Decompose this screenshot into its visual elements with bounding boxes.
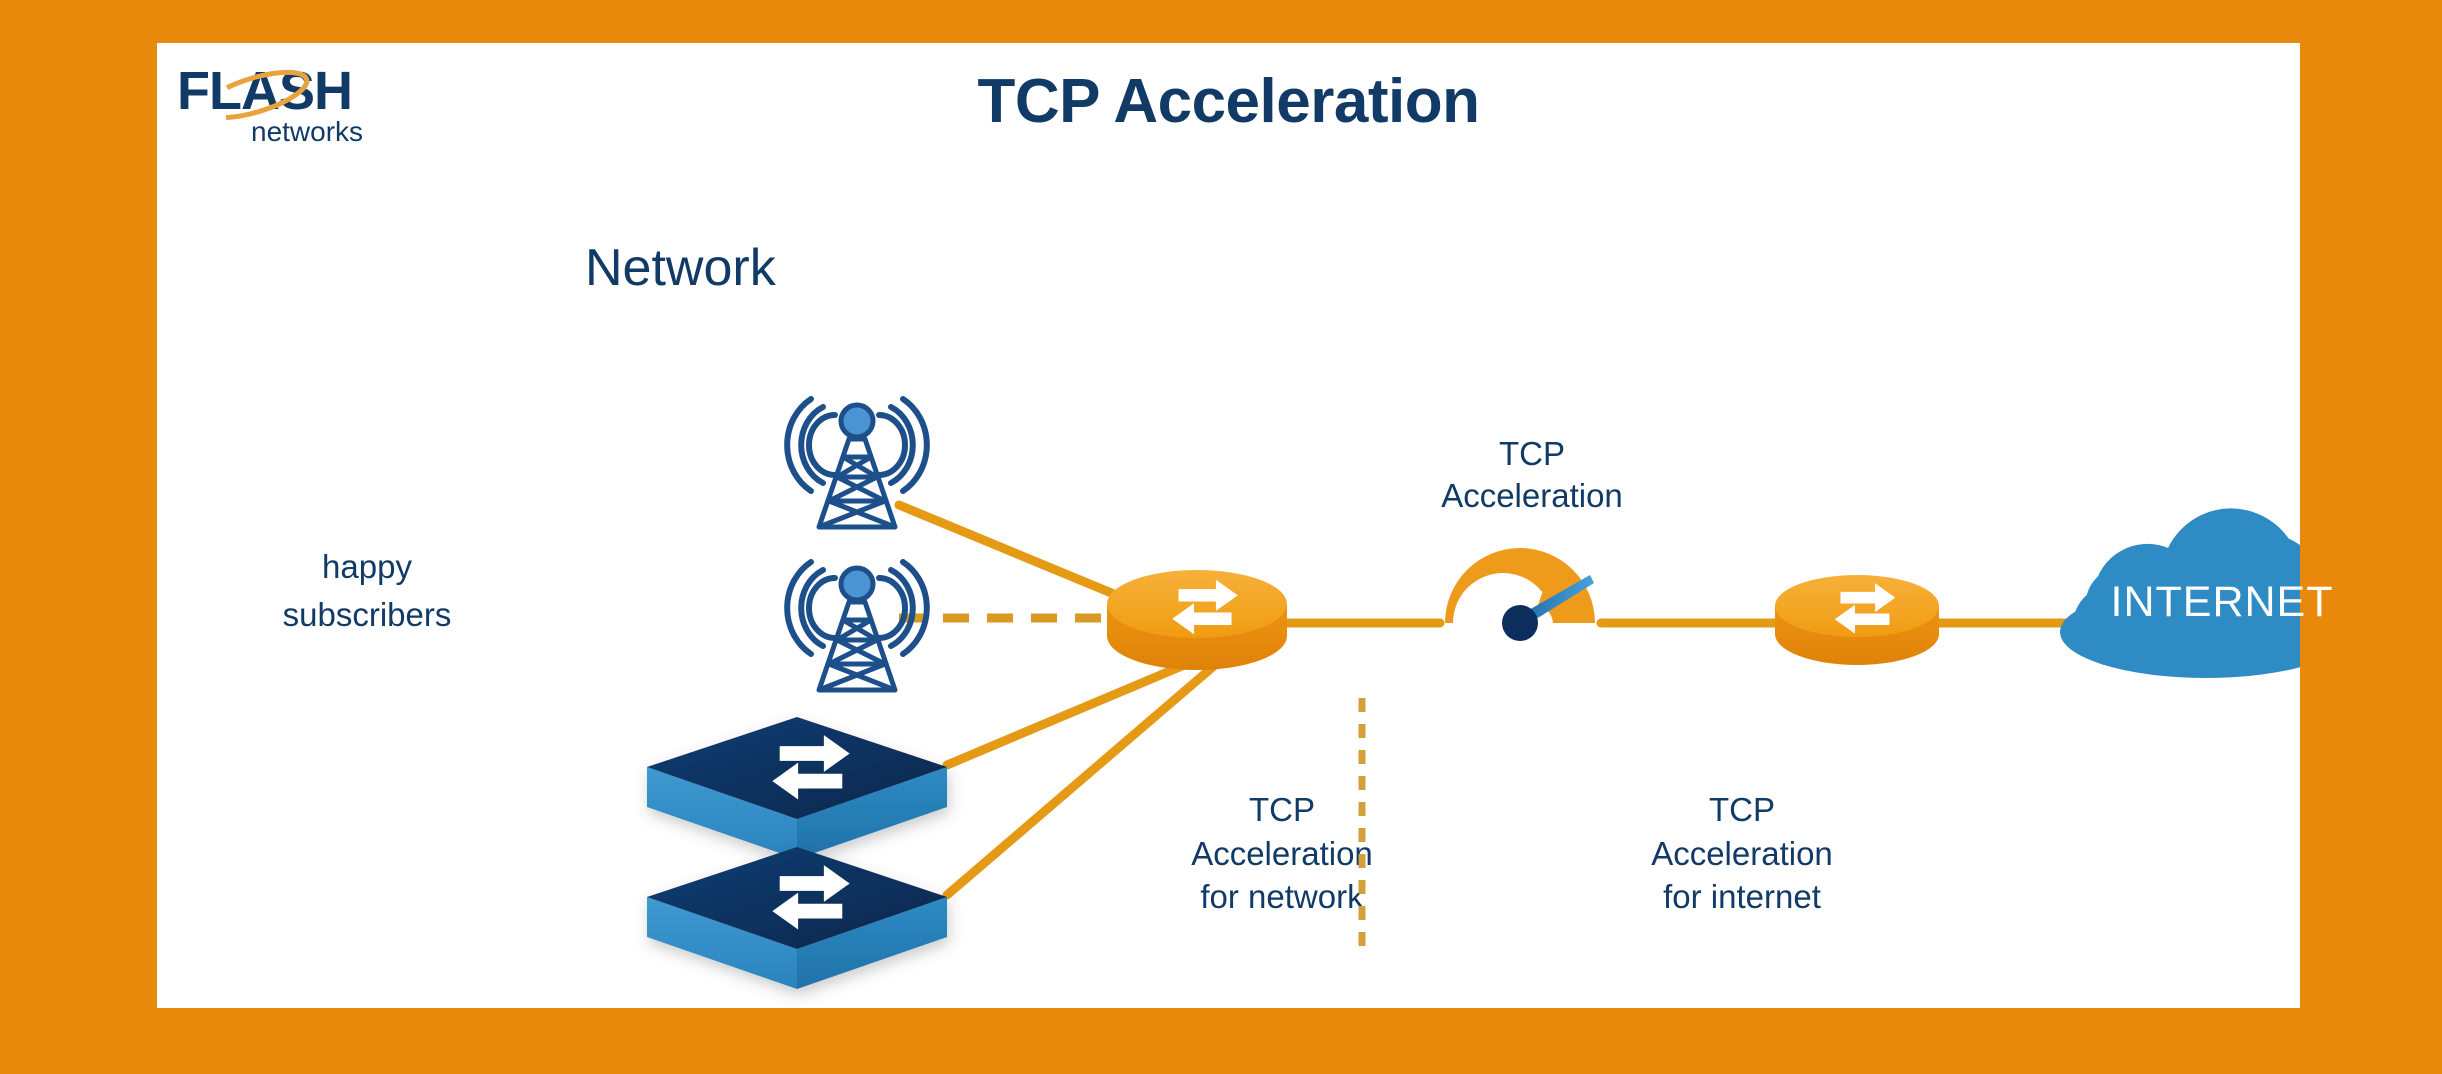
network-switch-icon-top[interactable] <box>647 717 947 859</box>
slide-card: FLASH networks TCP Acceleration Network … <box>157 43 2300 1008</box>
speed-gauge-icon[interactable] <box>1445 548 1595 641</box>
slide-canvas: FLASH networks TCP Acceleration Network … <box>0 0 2442 1074</box>
link-switch-bottom-router <box>947 665 1215 895</box>
router-icon-right[interactable] <box>1775 575 1939 665</box>
internet-cloud-icon[interactable] <box>2060 508 2300 678</box>
network-switch-icon-bottom[interactable] <box>647 847 947 989</box>
cell-tower-icon-bottom[interactable] <box>787 562 927 690</box>
network-diagram <box>157 43 2300 1008</box>
router-icon-left[interactable] <box>1107 570 1287 670</box>
